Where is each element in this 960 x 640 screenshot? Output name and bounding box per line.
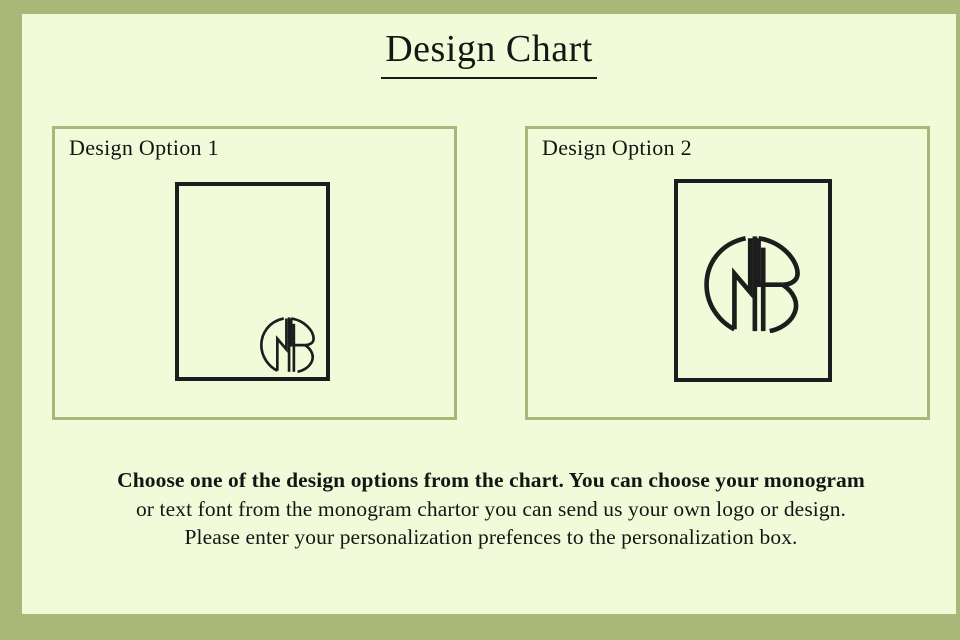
design-option-2-preview-frame [674, 179, 832, 382]
title-block: Design Chart [22, 28, 956, 79]
design-chart-page: Design Chart Design Option 1 [0, 0, 960, 640]
page-title: Design Chart [381, 28, 597, 79]
design-option-1-label: Design Option 1 [69, 135, 219, 161]
mr-monogram-icon [256, 313, 320, 373]
design-option-2-card[interactable]: Design Option 2 [525, 126, 930, 420]
mr-monogram-icon [697, 229, 810, 333]
instructions-line-2: or text font from the monogram chartor y… [46, 495, 936, 524]
design-option-1-preview-frame [175, 182, 330, 381]
instructions-paragraph: Choose one of the design options from th… [46, 466, 936, 552]
design-options-row: Design Option 1 [52, 126, 930, 420]
design-option-2-label: Design Option 2 [542, 135, 692, 161]
design-option-1-card[interactable]: Design Option 1 [52, 126, 457, 420]
content-card: Design Chart Design Option 1 [22, 14, 960, 618]
instructions-line-1: Choose one of the design options from th… [46, 466, 936, 495]
instructions-line-3: Please enter your personalization prefen… [46, 523, 936, 552]
